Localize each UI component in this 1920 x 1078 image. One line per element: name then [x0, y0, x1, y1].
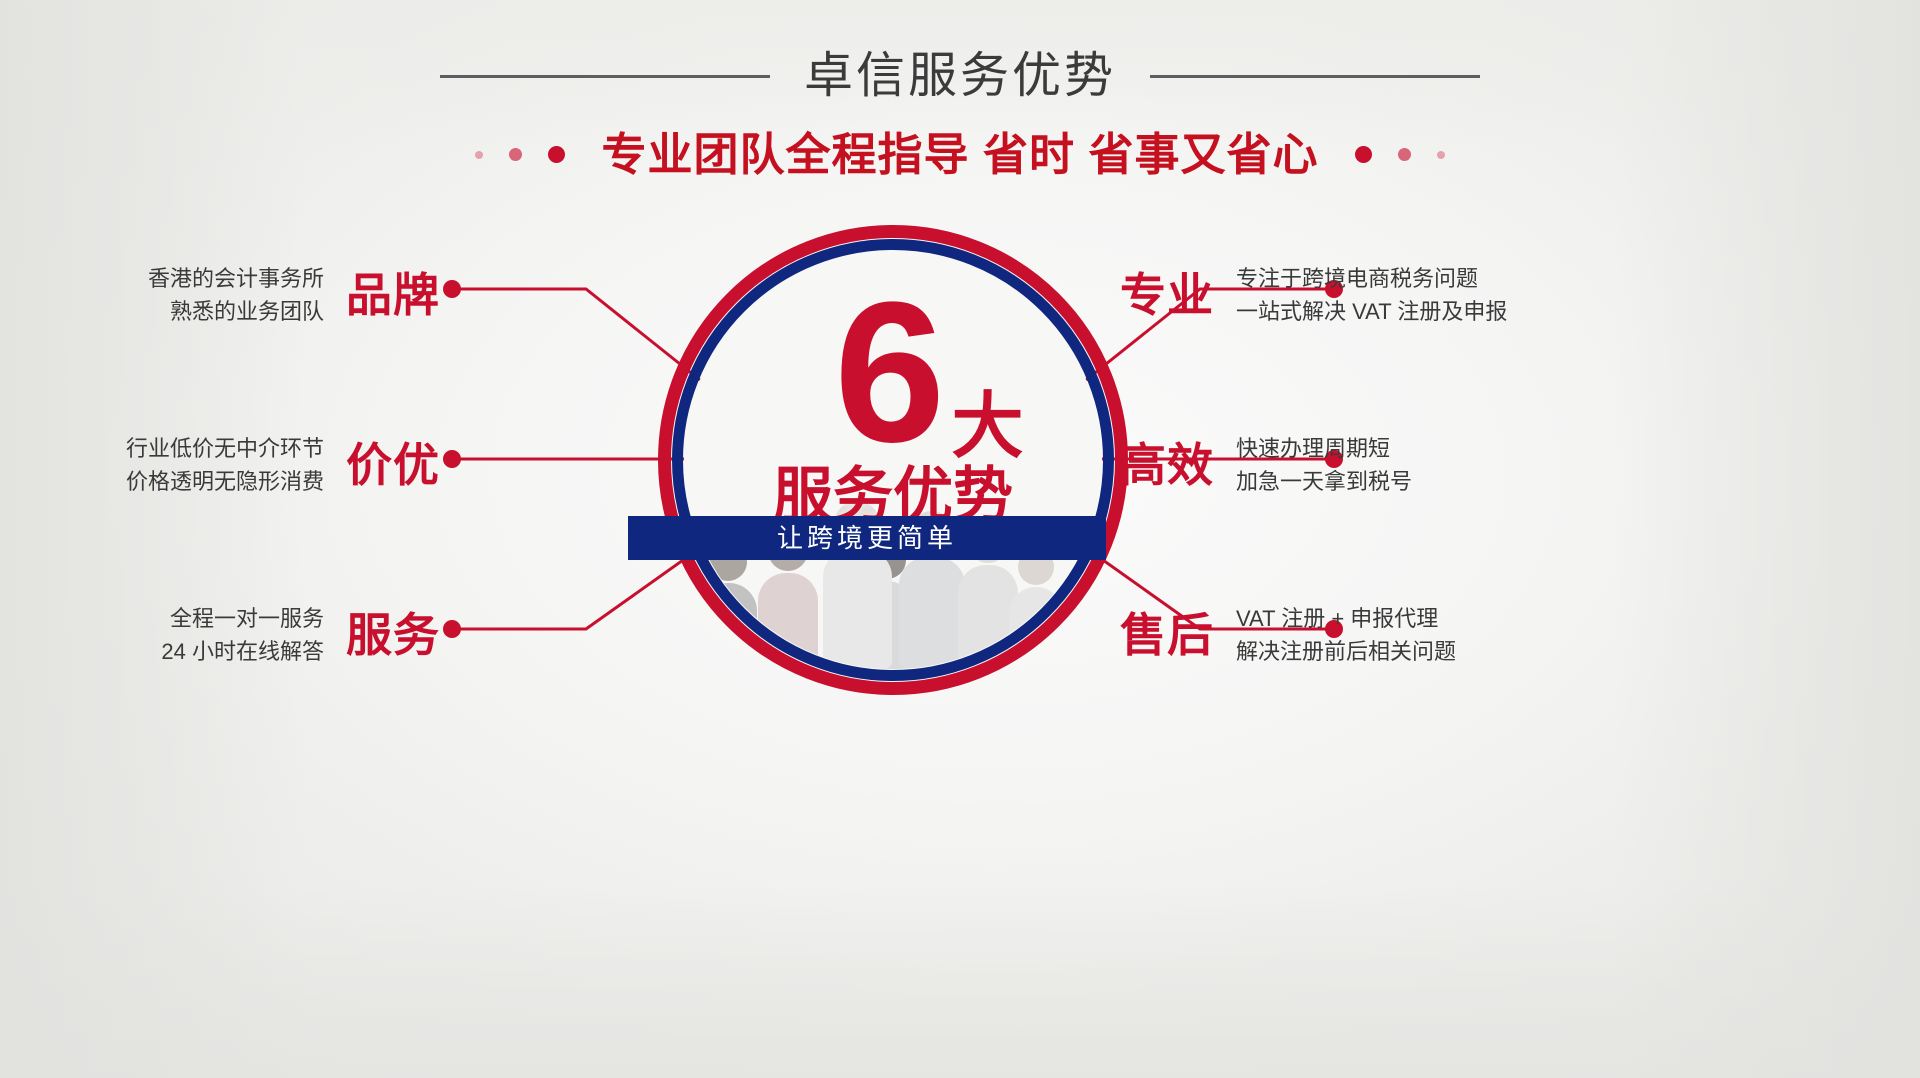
feature-desc-line1: 香港的会计事务所 [148, 262, 324, 295]
dot-icon [509, 148, 522, 161]
decorative-dots-left [475, 146, 565, 163]
feature-keyword: 专业 [1120, 272, 1214, 318]
feature-description: 全程一对一服务 24 小时在线解答 [161, 602, 324, 668]
subtitle-row: 专业团队全程指导 省时 省事又省心 [0, 132, 1920, 177]
center-circle-graphic: 6 大 服务优势 让跨境更简单 [658, 225, 1128, 695]
feature-keyword: 高效 [1120, 442, 1214, 488]
feature-desc-line1: 行业低价无中介环节 [126, 432, 324, 465]
feature-description: 香港的会计事务所 熟悉的业务团队 [148, 262, 324, 328]
header-rule-left [440, 75, 770, 78]
feature-desc-line2: 解决注册前后相关问题 [1236, 635, 1456, 668]
feature-desc-line2: 一站式解决 VAT 注册及申报 [1236, 295, 1507, 328]
header-rule-right [1150, 75, 1480, 78]
center-number-suffix: 大 [952, 391, 1024, 463]
subtitle-text: 专业团队全程指导 省时 省事又省心 [601, 132, 1318, 177]
dot-icon [475, 151, 483, 159]
feature-description: VAT 注册 + 申报代理 解决注册前后相关问题 [1236, 602, 1456, 668]
decorative-dots-right [1355, 146, 1445, 163]
feature-desc-line1: VAT 注册 + 申报代理 [1236, 602, 1456, 635]
connector-dot [443, 280, 461, 298]
feature-desc-line1: 全程一对一服务 [161, 602, 324, 635]
center-number: 6 [834, 281, 939, 465]
feature-desc-line2: 24 小时在线解答 [161, 635, 324, 668]
page-title: 卓信服务优势 [804, 52, 1116, 101]
feature-desc-line1: 快速办理周期短 [1236, 432, 1412, 465]
feature-keyword: 价优 [346, 442, 440, 488]
dot-icon [1355, 146, 1372, 163]
dot-icon [548, 146, 565, 163]
center-banner: 让跨境更简单 [628, 516, 1106, 560]
feature-item-professional[interactable]: 专业 专注于跨境电商税务问题 一站式解决 VAT 注册及申报 [1120, 262, 1540, 328]
dot-icon [1398, 148, 1411, 161]
page-header: 卓信服务优势 [0, 52, 1920, 101]
feature-keyword: 售后 [1120, 612, 1214, 658]
feature-desc-line2: 加急一天拿到税号 [1236, 465, 1412, 498]
feature-item-brand[interactable]: 香港的会计事务所 熟悉的业务团队 品牌 [60, 262, 440, 328]
feature-desc-line2: 熟悉的业务团队 [148, 295, 324, 328]
connector-dot [443, 620, 461, 638]
feature-description: 快速办理周期短 加急一天拿到税号 [1236, 432, 1412, 498]
feature-keyword: 品牌 [346, 272, 440, 318]
poster-canvas: 卓信服务优势 专业团队全程指导 省时 省事又省心 [0, 0, 1920, 1078]
feature-desc-line2: 价格透明无隐形消费 [126, 465, 324, 498]
feature-item-after-sales[interactable]: 售后 VAT 注册 + 申报代理 解决注册前后相关问题 [1120, 602, 1540, 668]
feature-item-efficiency[interactable]: 高效 快速办理周期短 加急一天拿到税号 [1120, 432, 1540, 498]
feature-desc-line1: 专注于跨境电商税务问题 [1236, 262, 1507, 295]
feature-keyword: 服务 [346, 612, 440, 658]
feature-description: 行业低价无中介环节 价格透明无隐形消费 [126, 432, 324, 498]
connector-dot [443, 450, 461, 468]
feature-description: 专注于跨境电商税务问题 一站式解决 VAT 注册及申报 [1236, 262, 1507, 328]
feature-item-price[interactable]: 行业低价无中介环节 价格透明无隐形消费 价优 [60, 432, 440, 498]
dot-icon [1437, 151, 1445, 159]
feature-item-service[interactable]: 全程一对一服务 24 小时在线解答 服务 [60, 602, 440, 668]
center-banner-text: 让跨境更简单 [777, 525, 957, 551]
